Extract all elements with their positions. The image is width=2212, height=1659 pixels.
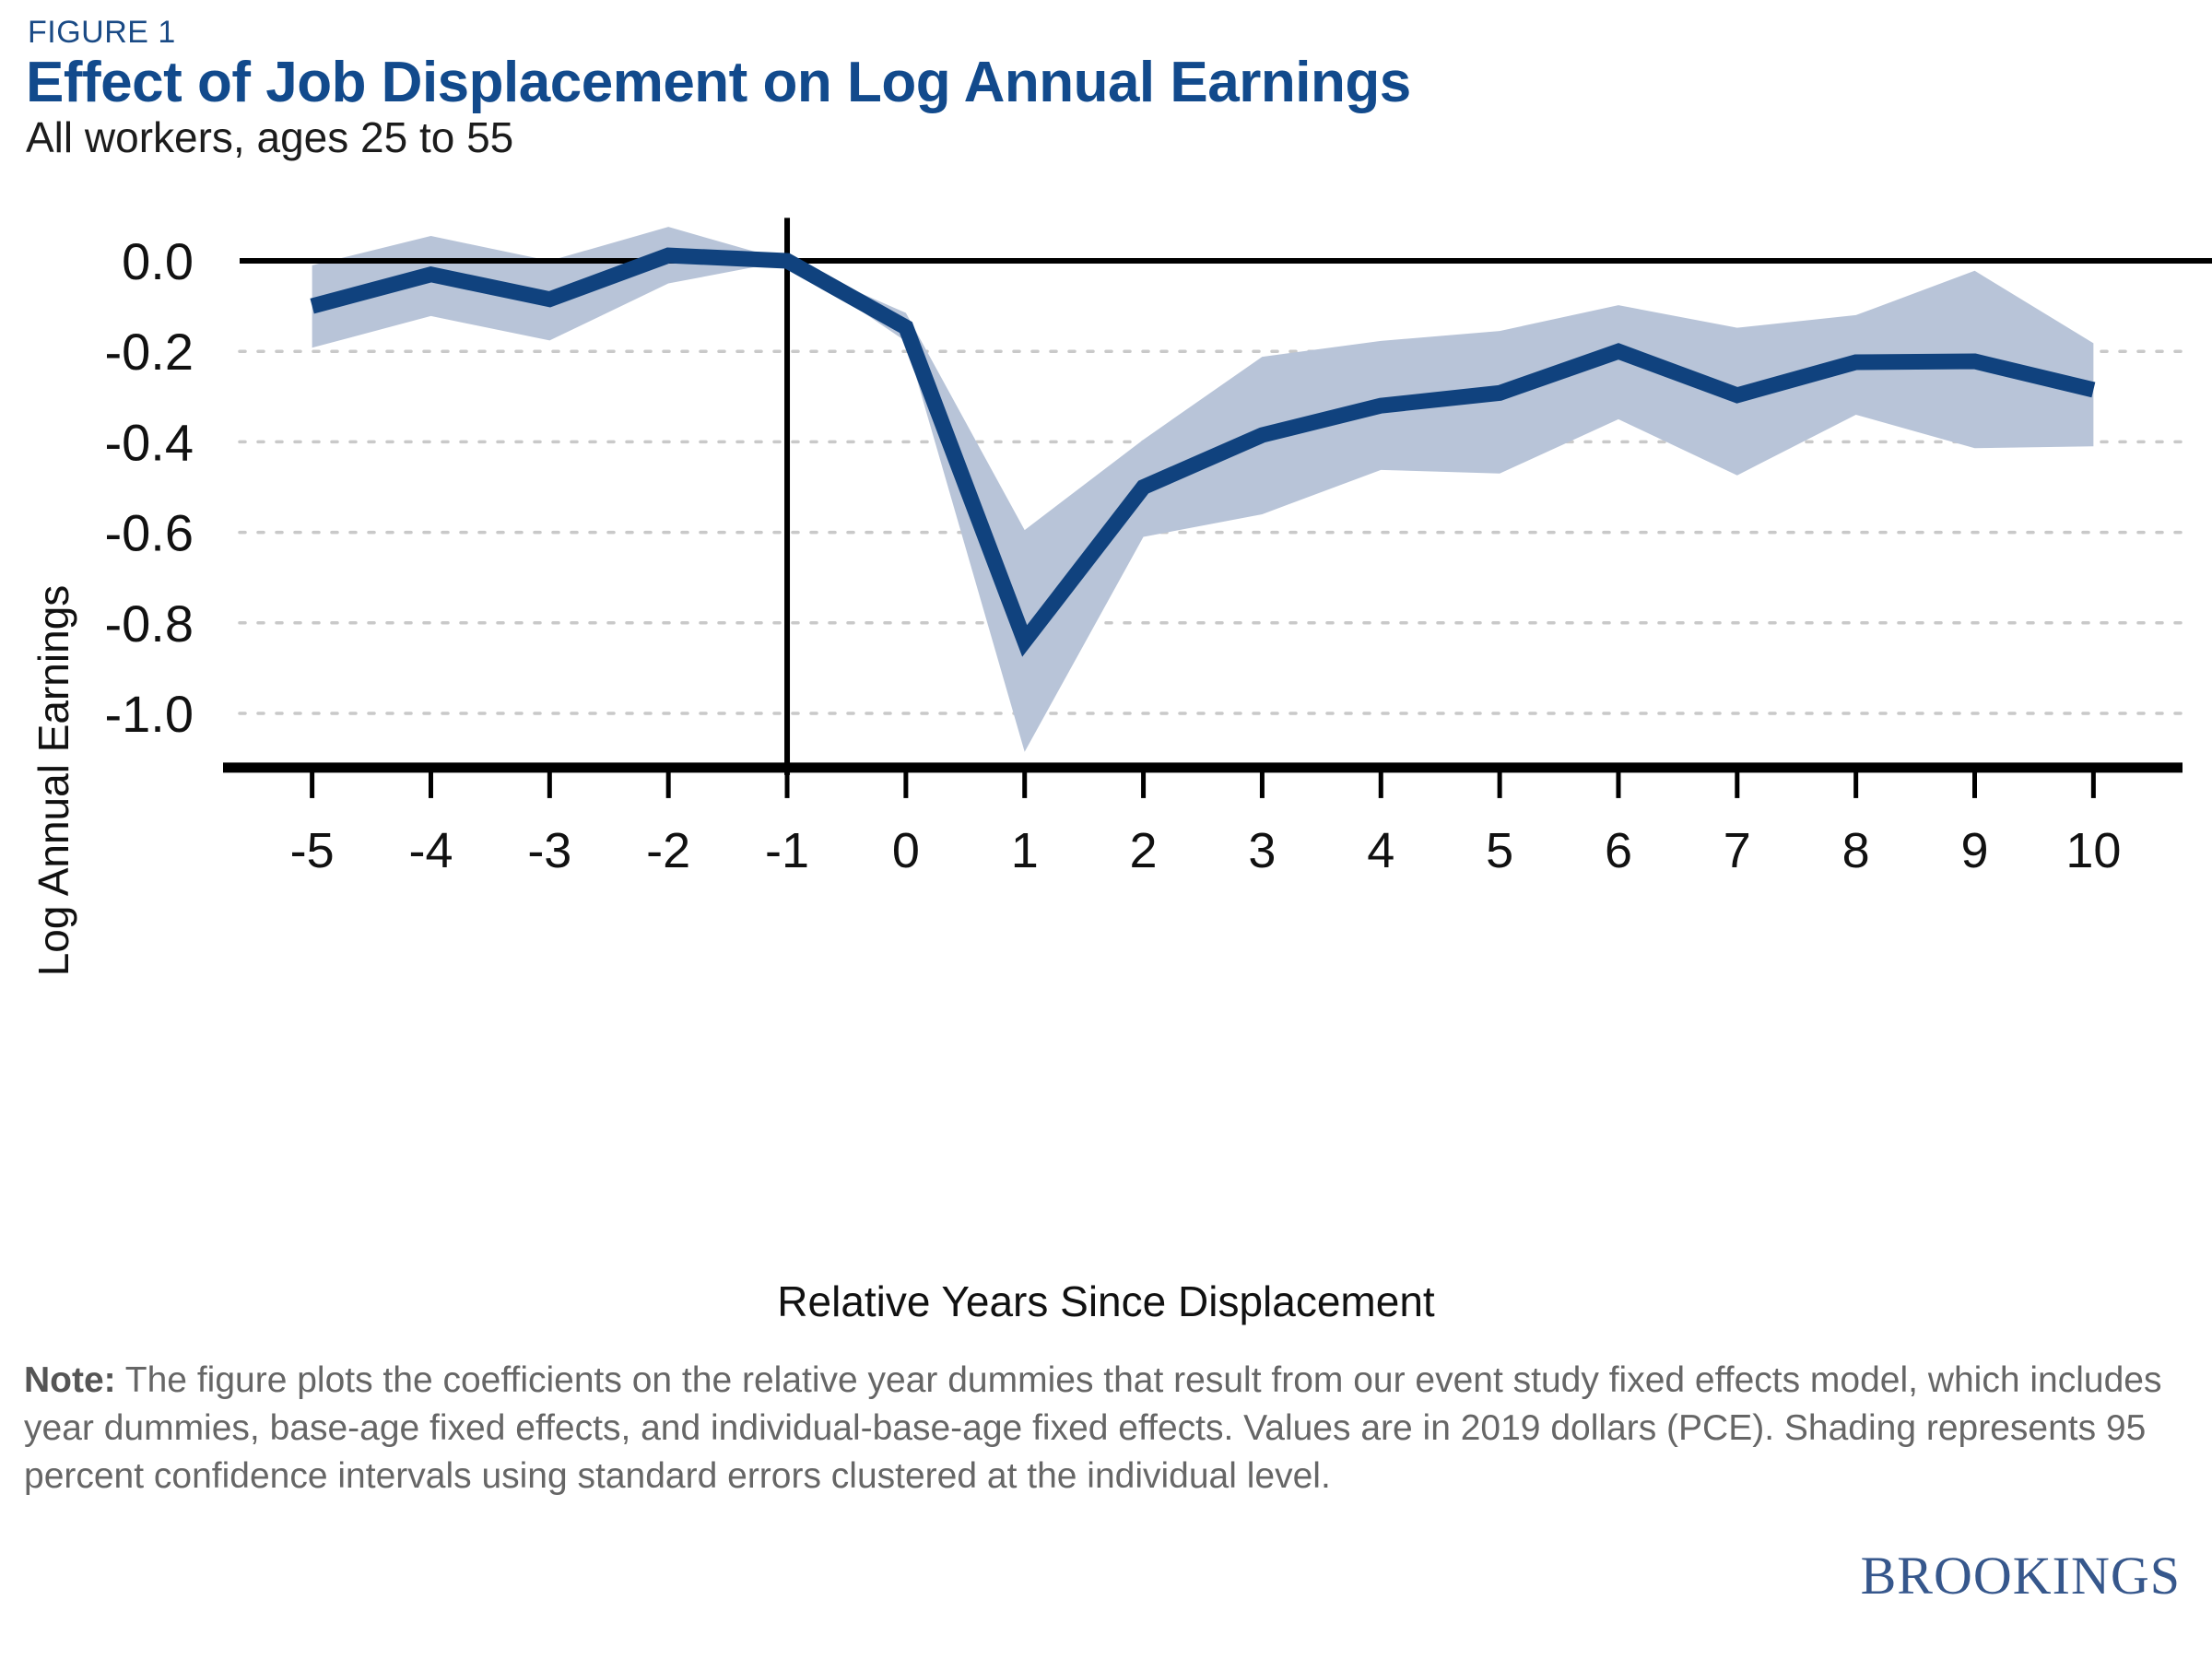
x-axis-tick-label: -1 bbox=[765, 823, 809, 878]
x-axis-tick-label: 5 bbox=[1486, 823, 1513, 878]
x-axis-tick-label: 6 bbox=[1605, 823, 1632, 878]
y-axis-tick-label: -0.8 bbox=[105, 594, 194, 653]
x-axis-tick-label: 7 bbox=[1724, 823, 1751, 878]
x-axis-tick-label: -3 bbox=[527, 823, 571, 878]
x-axis-tick-label: 0 bbox=[892, 823, 920, 878]
x-axis-tick-label: 10 bbox=[2065, 823, 2121, 878]
y-axis-title: Log Annual Earnings bbox=[29, 495, 78, 1066]
line-chart-svg: -5-4-3-2-10123456789100.0-0.2-0.4-0.6-0.… bbox=[0, 166, 2212, 1327]
figure-label: FIGURE 1 bbox=[28, 15, 176, 51]
x-axis-tick-label: -2 bbox=[646, 823, 690, 878]
x-axis-tick-label: 3 bbox=[1248, 823, 1276, 878]
figure-note: Note: The figure plots the coefficients … bbox=[24, 1357, 2171, 1500]
x-axis-tick-label: 9 bbox=[1960, 823, 1988, 878]
page-subtitle: All workers, ages 25 to 55 bbox=[26, 112, 513, 162]
x-axis-tick-label: 1 bbox=[1011, 823, 1039, 878]
x-axis-tick-label: 2 bbox=[1130, 823, 1158, 878]
note-label: Note: bbox=[24, 1360, 116, 1400]
x-axis-tick-label: -5 bbox=[290, 823, 335, 878]
x-axis-tick-label: 4 bbox=[1367, 823, 1394, 878]
y-axis-tick-label: 0.0 bbox=[122, 232, 194, 290]
x-axis-tick-label: -4 bbox=[408, 823, 453, 878]
x-axis-title: Relative Years Since Displacement bbox=[0, 1277, 2212, 1326]
confidence-band bbox=[312, 227, 2094, 752]
note-body: The figure plots the coefficients on the… bbox=[24, 1360, 2161, 1496]
y-axis-tick-label: -0.2 bbox=[105, 323, 194, 381]
y-axis-tick-label: -0.4 bbox=[105, 413, 194, 471]
page-title: Effect of Job Displacement on Log Annual… bbox=[26, 50, 1411, 115]
x-axis-tick-label: 8 bbox=[1842, 823, 1870, 878]
y-axis-tick-label: -1.0 bbox=[105, 685, 194, 743]
chart-area: -5-4-3-2-10123456789100.0-0.2-0.4-0.6-0.… bbox=[0, 166, 2212, 1272]
brookings-logo: BROOKINGS bbox=[1861, 1545, 2181, 1606]
y-axis-tick-label: -0.6 bbox=[105, 504, 194, 562]
